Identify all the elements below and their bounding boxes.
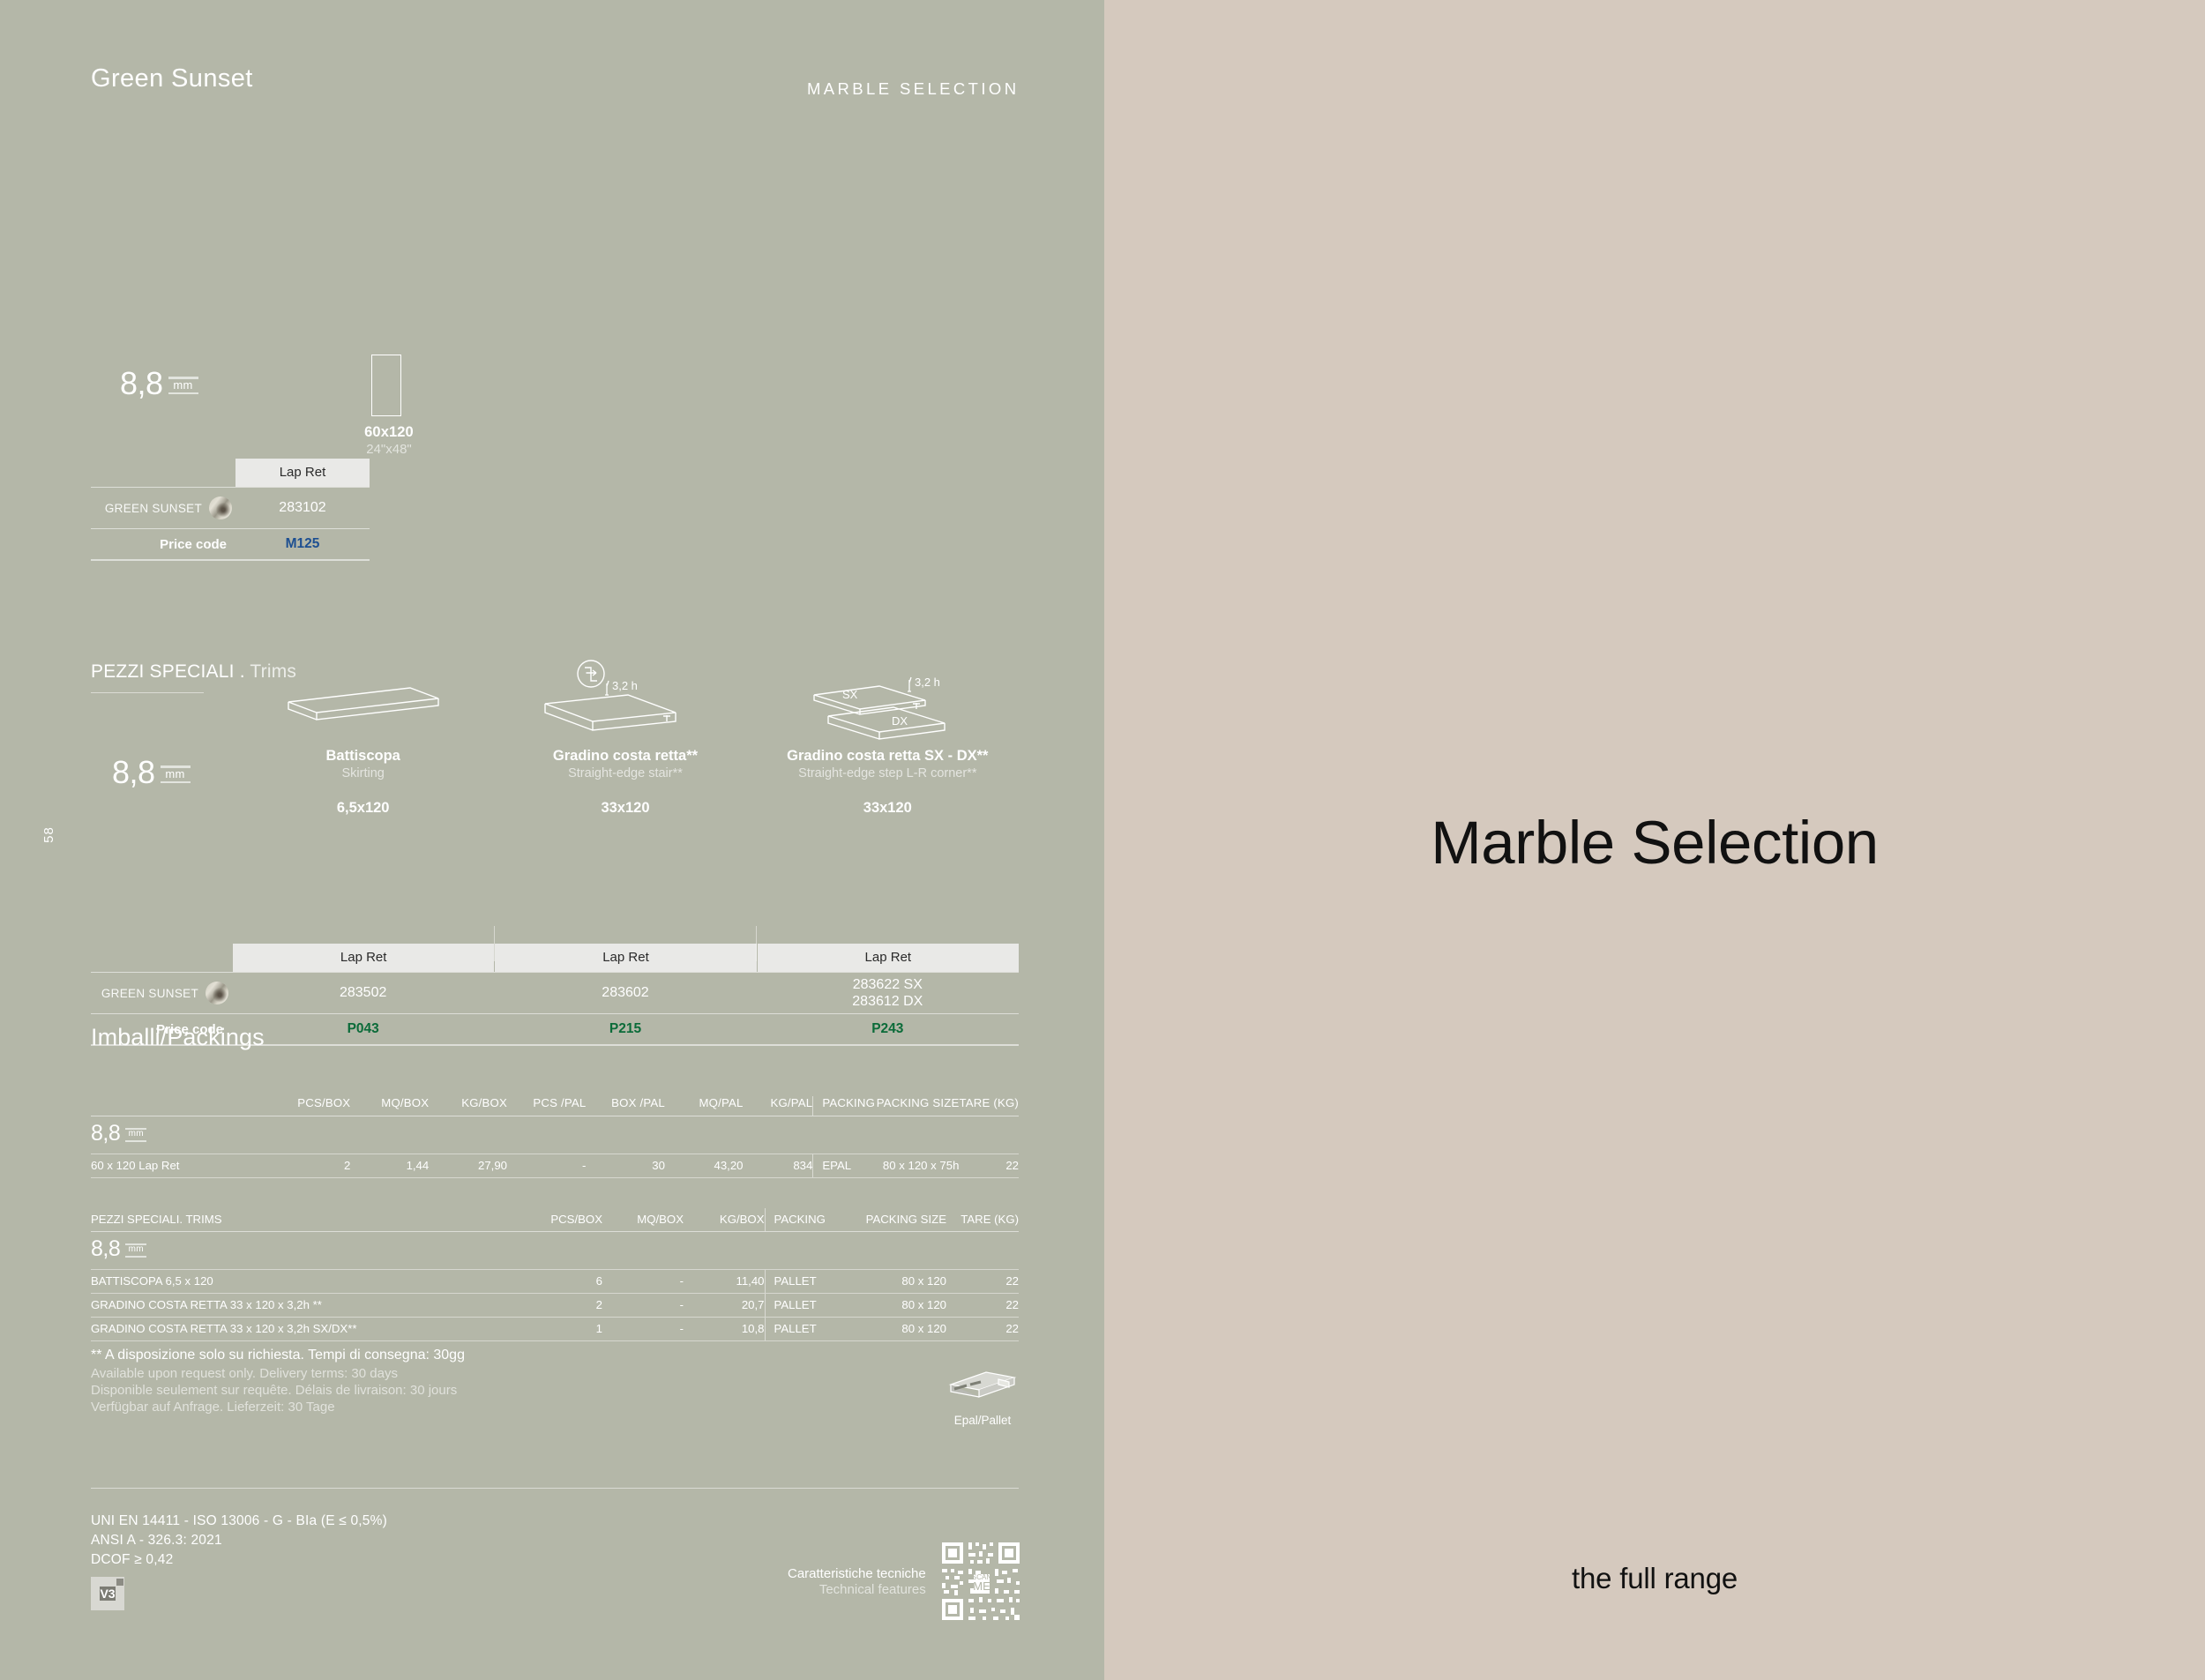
- cell-kg-box: 20,7: [684, 1293, 765, 1317]
- trim-code: 283502: [232, 984, 494, 1002]
- thickness-row: 8,8 mm: [91, 1232, 1019, 1270]
- qr-caption-it: Caratteristiche tecniche: [788, 1566, 926, 1581]
- cell-box-pal: 30: [586, 1154, 664, 1177]
- trim-finish: Lap Ret: [494, 944, 756, 972]
- table-row: 60 x 120 Lap Ret 2 1,44 27,90 - 30 43,20…: [91, 1154, 1019, 1177]
- thickness-value: 8,8: [120, 369, 163, 399]
- cell-mq-box: -: [602, 1269, 684, 1293]
- col-header: PACKING SIZE: [828, 1208, 946, 1232]
- table-header-row: PEZZI SPECIALI. TRIMS PCS/BOX MQ/BOX KG/…: [91, 1208, 1019, 1232]
- row-label: 60 x 120 Lap Ret: [91, 1154, 268, 1177]
- trims-finish-row: Lap Ret Lap Ret Lap Ret: [91, 944, 1019, 972]
- spec-line-1: UNI EN 14411 - ISO 13006 - G - BIa (E ≤ …: [91, 1512, 387, 1531]
- trim-size: 33x120: [494, 800, 756, 817]
- price-code-value: M125: [235, 536, 370, 552]
- col-header: [91, 1096, 268, 1116]
- trim-finish: Lap Ret: [232, 944, 494, 972]
- cell-packing-size: 80 x 120: [828, 1293, 946, 1317]
- col-header: PACKING SIZE: [877, 1096, 960, 1116]
- col-header: PCS /PAL: [507, 1096, 586, 1116]
- color-swatch-icon: [209, 497, 232, 519]
- col-header: KG/PAL: [744, 1096, 813, 1116]
- table-row: GRADINO COSTA RETTA 33 x 120 x 3,2h SX/D…: [91, 1317, 1019, 1340]
- size-imperial: 24"x48": [355, 442, 422, 457]
- col-header: MQ/PAL: [665, 1096, 744, 1116]
- skirting-art-icon: [232, 670, 494, 748]
- thickness-badge: 8,8 mm: [120, 369, 198, 399]
- collection-label: MARBLE SELECTION: [807, 79, 1019, 99]
- price-code-label: Price code: [91, 537, 235, 552]
- pallet-caption: Epal/Pallet: [946, 1414, 1020, 1427]
- section-subtitle: the full range: [1104, 1562, 2205, 1595]
- color-swatch-icon: [206, 982, 228, 1004]
- catalog-left-page: Green Sunset MARBLE SELECTION 58 8,8 mm …: [0, 0, 1104, 1680]
- col-header: MQ/BOX: [602, 1208, 684, 1232]
- trim-code: 283602: [494, 984, 756, 1002]
- column-divider: [494, 926, 495, 961]
- stair-height-note: 3,2 h: [612, 679, 638, 692]
- column-divider: [756, 926, 757, 961]
- cell-pcs-box: 6: [444, 1269, 602, 1293]
- trim-name-en: Skirting: [232, 766, 494, 780]
- finish-row: Lap Ret: [91, 459, 370, 487]
- thickness-rule-bottom: [125, 1140, 146, 1142]
- trim-name-en: Straight-edge step L-R corner**: [757, 766, 1019, 780]
- thickness-value: 8,8: [112, 758, 155, 788]
- shade-badge-label: V3: [100, 1587, 115, 1601]
- trim-size: 6,5x120: [232, 800, 494, 817]
- page-number-left: 58: [41, 826, 56, 843]
- label-dx: DX: [892, 714, 908, 728]
- cell-pcs-box: 2: [444, 1293, 602, 1317]
- row-label: GRADINO COSTA RETTA 33 x 120 x 3,2h **: [91, 1293, 444, 1317]
- page-title: Green Sunset: [91, 64, 253, 93]
- cell-tare: 22: [946, 1269, 1019, 1293]
- cell-packing: PALLET: [765, 1293, 828, 1317]
- thickness-unit: mm: [129, 1130, 144, 1139]
- col-header: TARE (KG): [946, 1208, 1019, 1232]
- spec-line-2: ANSI A - 326.3: 2021: [91, 1531, 387, 1550]
- cell-mq-pal: 43,20: [665, 1154, 744, 1177]
- thickness-value: 8,8: [91, 1239, 120, 1260]
- cell-tare: 22: [946, 1317, 1019, 1340]
- footnote-it: ** A disposizione solo su richiesta. Tem…: [91, 1348, 465, 1363]
- corner-step-height-note: 3,2 h: [915, 676, 940, 689]
- trim-code: 283622 SX 283612 DX: [757, 976, 1019, 1011]
- trim-column-skirting: Battiscopa Skirting 6,5x120: [232, 670, 494, 817]
- product-code: 283102: [235, 500, 370, 516]
- price-code-row: Price code M125: [91, 529, 370, 559]
- table-row: BATTISCOPA 6,5 x 120 6 - 11,40 PALLET 80…: [91, 1269, 1019, 1293]
- cell-pcs-box: 1: [444, 1317, 602, 1340]
- thickness-unit: mm: [173, 379, 192, 392]
- cell-packing: PALLET: [765, 1317, 828, 1340]
- section-title: Marble Selection: [1104, 808, 2205, 877]
- cell-kg-box: 11,40: [684, 1269, 765, 1293]
- price-code-value: P243: [757, 1021, 1019, 1037]
- cell-pcs-box: 2: [268, 1154, 350, 1177]
- cell-kg-box: 10,8: [684, 1317, 765, 1340]
- cell-kg-pal: 834: [744, 1154, 813, 1177]
- cell-packing: EPAL: [813, 1154, 877, 1177]
- row-label: GRADINO COSTA RETTA 33 x 120 x 3,2h SX/D…: [91, 1317, 444, 1340]
- col-header: MQ/BOX: [350, 1096, 429, 1116]
- cell-packing-size: 80 x 120 x 75h: [877, 1154, 960, 1177]
- qr-block[interactable]: Caratteristiche tecniche Technical featu…: [788, 1539, 1023, 1624]
- col-header: PCS/BOX: [444, 1208, 602, 1232]
- label-sx: SX: [842, 688, 858, 701]
- thickness-rule-bottom: [168, 392, 198, 395]
- table-row: GRADINO COSTA RETTA 33 x 120 x 3,2h ** 2…: [91, 1293, 1019, 1317]
- trim-column-stair: 3,2 h Gradino costa retta** Straight-edg…: [494, 670, 756, 817]
- col-header: BOX /PAL: [586, 1096, 664, 1116]
- qr-code-icon[interactable]: SCAN ME: [938, 1539, 1023, 1624]
- finish-cell: Lap Ret: [235, 459, 370, 487]
- row-label: BATTISCOPA 6,5 x 120: [91, 1269, 444, 1293]
- trims-title-it: PEZZI SPECIALI: [91, 661, 235, 682]
- trim-name-en: Straight-edge stair**: [494, 766, 756, 780]
- trims-section: PEZZI SPECIALI . Trims 8,8 mm: [91, 661, 1019, 693]
- trim-column-corner-step: 3,2 h SX DX: [757, 670, 1019, 817]
- col-header: PACKING: [813, 1096, 877, 1116]
- thickness-rule-bottom: [125, 1256, 146, 1258]
- cell-kg-box: 27,90: [429, 1154, 507, 1177]
- size-metric: 60x120: [355, 424, 422, 441]
- divider: [91, 559, 370, 560]
- thickness-unit: mm: [129, 1245, 144, 1255]
- qr-scan-line2: ME: [973, 1579, 990, 1593]
- col-header: PCS/BOX: [268, 1096, 350, 1116]
- thickness-rule-bottom: [161, 781, 191, 784]
- cell-mq-box: -: [602, 1293, 684, 1317]
- table-header-row: PCS/BOX MQ/BOX KG/BOX PCS /PAL BOX /PAL …: [91, 1096, 1019, 1116]
- cell-packing-size: 80 x 120: [828, 1317, 946, 1340]
- thickness-value: 8,8: [91, 1124, 120, 1145]
- col-header: PACKING: [765, 1208, 828, 1232]
- pallet-icon: [946, 1365, 1020, 1402]
- stair-art-icon: 3,2 h: [494, 670, 756, 748]
- divider: [91, 692, 204, 693]
- color-name: GREEN SUNSET: [101, 987, 198, 1000]
- col-header: KG/BOX: [684, 1208, 765, 1232]
- thickness-badge: 8,8 mm: [91, 1239, 146, 1260]
- col-header: KG/BOX: [429, 1096, 507, 1116]
- shade-variation-badge-icon: V3: [91, 1577, 124, 1610]
- col-header: PEZZI SPECIALI. TRIMS: [91, 1208, 444, 1232]
- cell-tare: 22: [946, 1293, 1019, 1317]
- divider: [91, 1488, 1019, 1489]
- qr-caption: Caratteristiche tecniche Technical featu…: [788, 1566, 926, 1597]
- footnote-fr: Disponible seulement sur requête. Délais…: [91, 1383, 465, 1398]
- technical-specs: UNI EN 14411 - ISO 13006 - G - BIa (E ≤ …: [91, 1512, 387, 1570]
- packings-table-trims: PEZZI SPECIALI. TRIMS PCS/BOX MQ/BOX KG/…: [91, 1208, 1019, 1341]
- size-label: 60x120 24"x48": [355, 424, 422, 457]
- qr-caption-en: Technical features: [788, 1582, 926, 1597]
- corner-step-art-icon: 3,2 h SX DX: [757, 670, 1019, 748]
- footnote-en: Available upon request only. Delivery te…: [91, 1366, 465, 1381]
- trim-name-it: Gradino costa retta SX - DX**: [757, 748, 1019, 765]
- footnote-block: ** A disposizione solo su richiesta. Tem…: [91, 1348, 465, 1416]
- cell-mq-box: 1,44: [350, 1154, 429, 1177]
- color-name: GREEN SUNSET: [105, 502, 202, 515]
- cell-pcs-pal: -: [507, 1154, 586, 1177]
- catalog-right-page: Marble Selection the full range 59: [1104, 0, 2205, 1680]
- price-code-value: P215: [494, 1021, 756, 1037]
- footnote-de: Verfügbar auf Anfrage. Lieferzeit: 30 Ta…: [91, 1400, 465, 1415]
- packings-table-main: PCS/BOX MQ/BOX KG/BOX PCS /PAL BOX /PAL …: [91, 1096, 1019, 1178]
- thickness-badge: 8,8 mm: [91, 1124, 146, 1145]
- trim-name-it: Gradino costa retta**: [494, 748, 756, 765]
- pallet-legend: Epal/Pallet: [946, 1365, 1020, 1427]
- col-header: TARE (KG): [959, 1096, 1019, 1116]
- tile-shape-icon: [371, 355, 401, 416]
- spec-line-3: DCOF ≥ 0,42: [91, 1550, 387, 1570]
- trim-size: 33x120: [757, 800, 1019, 817]
- packings-title: Imballi/Packings: [91, 1024, 265, 1051]
- cell-tare: 22: [959, 1154, 1019, 1177]
- price-code-value: P043: [232, 1021, 494, 1037]
- thickness-badge: 8,8 mm: [112, 758, 191, 788]
- cell-mq-box: -: [602, 1317, 684, 1340]
- cell-packing: PALLET: [765, 1269, 828, 1293]
- thickness-unit: mm: [165, 768, 184, 780]
- thickness-row: 8,8 mm: [91, 1116, 1019, 1154]
- cell-packing-size: 80 x 120: [828, 1269, 946, 1293]
- code-row: GREEN SUNSET 283102: [91, 488, 370, 528]
- trim-finish: Lap Ret: [757, 944, 1019, 972]
- trims-code-row: GREEN SUNSET 283502 283602 283622 SX 283…: [91, 973, 1019, 1013]
